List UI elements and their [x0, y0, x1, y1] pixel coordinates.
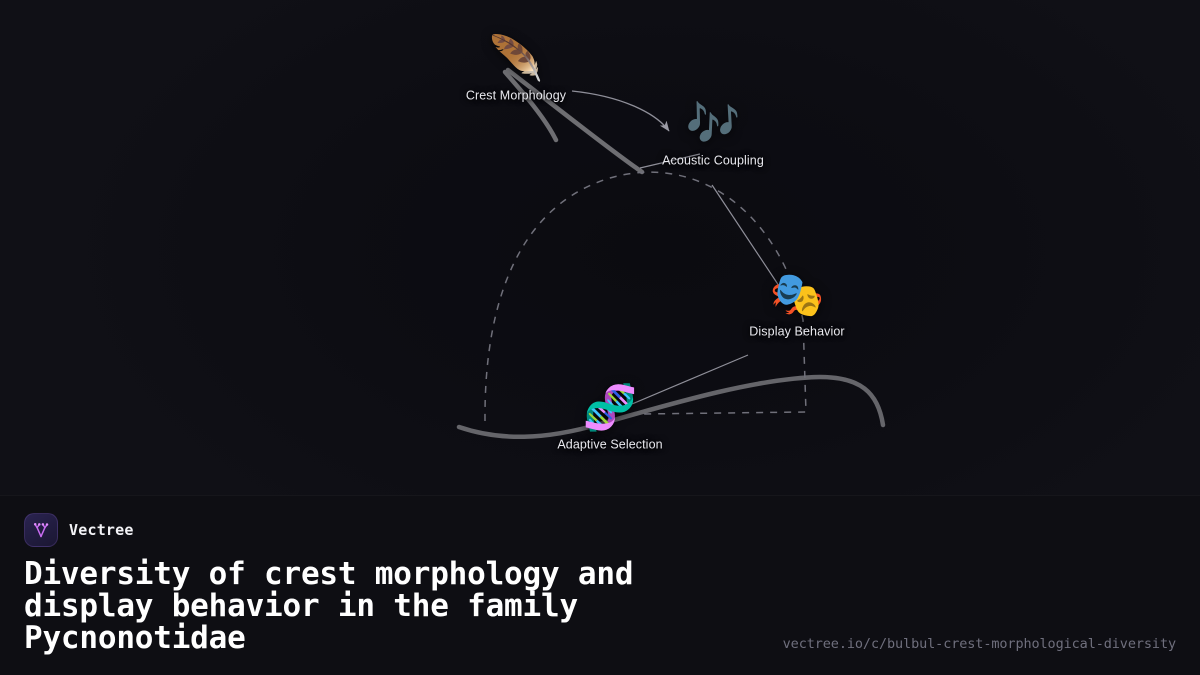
knowledge-graph-canvas[interactable]: 🪶 Crest Morphology 🎶 Acoustic Coupling 🎭…	[0, 0, 1200, 500]
graph-node-adaptive-selection[interactable]: 🧬 Adaptive Selection	[557, 387, 662, 452]
graph-node-label: Adaptive Selection	[557, 438, 662, 452]
graph-node-label: Acoustic Coupling	[662, 154, 764, 168]
graph-node-acoustic-coupling[interactable]: 🎶 Acoustic Coupling	[662, 103, 764, 168]
page-title: Diversity of crest morphology and displa…	[24, 558, 764, 654]
feather-icon: 🪶	[489, 38, 544, 82]
graph-node-label: Crest Morphology	[466, 89, 566, 103]
performing-arts-masks-icon: 🎭	[770, 274, 825, 318]
vectree-share-card: 🪶 Crest Morphology 🎶 Acoustic Coupling 🎭…	[0, 0, 1200, 675]
brand-row: Vectree	[24, 514, 1176, 546]
card-footer: Vectree Diversity of crest morphology an…	[0, 495, 1200, 675]
source-url: vectree.io/c/bulbul-crest-morphological-…	[783, 636, 1176, 652]
graph-node-display-behavior[interactable]: 🎭 Display Behavior	[749, 274, 844, 339]
vectree-branch-logo-icon	[24, 513, 58, 547]
musical-notes-icon: 🎶	[686, 103, 741, 147]
graph-node-label: Display Behavior	[749, 325, 844, 339]
graph-node-crest-morphology[interactable]: 🪶 Crest Morphology	[466, 38, 566, 103]
dna-helix-icon: 🧬	[583, 387, 638, 431]
brand-name: Vectree	[69, 521, 134, 539]
